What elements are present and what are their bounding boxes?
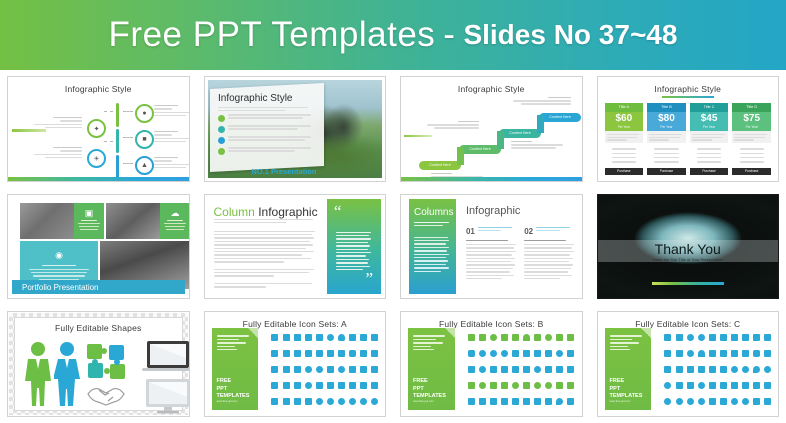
music-note-icon[interactable] [294, 366, 301, 373]
heart-icon[interactable] [512, 366, 519, 373]
pricing-plan-2[interactable]: Title B $80 Per Year [647, 103, 686, 175]
bullet-row [218, 136, 316, 144]
thermometer-icon[interactable] [664, 350, 671, 357]
slide-thumbnail-5[interactable]: ▣ ☁ [7, 194, 190, 300]
plan-header: Title C [690, 103, 729, 112]
checkbox-icon[interactable] [271, 382, 278, 389]
clock-icon[interactable] [305, 382, 312, 389]
numbered-column-1: 01 [466, 227, 517, 293]
briefcase-icon[interactable] [556, 382, 563, 389]
step-bar-1: Content Here [419, 161, 461, 170]
unlock-icon[interactable] [720, 350, 727, 357]
title-underline [662, 96, 714, 98]
text-block-left-1 [34, 117, 82, 128]
people-group-icon[interactable] [468, 334, 475, 341]
plan-price: $60 [615, 114, 632, 124]
left-accent-rule [404, 135, 432, 137]
plant-icon[interactable] [545, 398, 552, 405]
flag-icon[interactable] [534, 334, 541, 341]
cart-icon[interactable] [360, 334, 367, 341]
content-card: Infographic Style [210, 83, 324, 172]
slide-cell-9[interactable]: Fully Editable Shapes [0, 305, 197, 423]
megaphone-icon[interactable] [742, 334, 749, 341]
wifi-icon[interactable] [753, 382, 760, 389]
cloud-icon: ☁ [171, 208, 180, 219]
text-block-right-3 [154, 157, 190, 168]
camera-icon: ▣ [85, 208, 94, 219]
column-bar-green [116, 103, 119, 127]
chat-bubble-icon[interactable] [349, 350, 356, 357]
connector-dash-5 [123, 163, 133, 165]
plan-unit: Per Year [660, 125, 672, 129]
molecule-icon[interactable] [545, 366, 552, 373]
gift-icon[interactable] [360, 350, 367, 357]
pricing-table: Title A $60 Per Year [605, 103, 772, 175]
slide-5-title: Portfolio Presentation [22, 283, 99, 292]
slide-cell-8[interactable]: Thank You Insert the Sub Title of Your P… [590, 188, 786, 306]
star-icon[interactable] [371, 350, 378, 357]
medal-icon[interactable] [294, 382, 301, 389]
parachute-icon[interactable] [698, 350, 705, 357]
exclamation-icon[interactable] [534, 350, 541, 357]
green-info-panel: FREEPPTTEMPLATES www.free-ppt.com [212, 328, 259, 410]
mail-icon[interactable] [283, 334, 290, 341]
file-icon[interactable] [338, 382, 345, 389]
battery-full-icon[interactable] [698, 366, 705, 373]
bag-icon[interactable] [731, 334, 738, 341]
step-riser-3 [537, 115, 544, 133]
panel-brand: FREEPPTTEMPLATES www.free-ppt.com [413, 378, 446, 404]
monitor-icon[interactable] [294, 350, 301, 357]
plan-purchase-button[interactable]: Purchase [605, 168, 644, 175]
quote-open-mark: “ [334, 203, 342, 220]
connector-dash-2 [104, 141, 113, 143]
slide-cell-6[interactable]: Column Infographic [197, 188, 394, 306]
plan-price-box: $75 Per Year [732, 112, 771, 131]
slide-cell-11[interactable]: Fully Editable Icon Sets: B FREEPPTTEMPL… [393, 305, 590, 423]
circle-icon-3: ▲ [135, 156, 154, 175]
chart-icon[interactable] [305, 334, 312, 341]
slide-thumbnail-2[interactable]: Infographic Style [204, 76, 387, 182]
meeting-photo [106, 203, 160, 239]
step-riser-1 [457, 147, 464, 165]
anchor-icon[interactable] [742, 382, 749, 389]
circle-icon-4: ✦ [87, 119, 106, 138]
step-riser-2 [497, 131, 504, 149]
flask-icon[interactable] [567, 366, 574, 373]
cloud-weather-icon[interactable] [664, 398, 671, 405]
slide-cell-7[interactable]: Columns [393, 188, 590, 306]
rss-icon[interactable] [512, 398, 519, 405]
pencil-icon[interactable] [305, 398, 312, 405]
step-label: Content Here [499, 129, 541, 138]
building-icon[interactable] [271, 366, 278, 373]
download-icon[interactable] [731, 382, 738, 389]
tag-icon[interactable] [371, 334, 378, 341]
ruler-icon[interactable] [709, 382, 716, 389]
column-number: 02 [524, 227, 533, 236]
padlock-icon[interactable] [676, 350, 683, 357]
panel-website: www.free-ppt.com [610, 400, 643, 404]
bottom-accent-bar [8, 177, 189, 181]
syringe-icon[interactable] [490, 382, 497, 389]
step-note-3 [511, 141, 563, 149]
lightbulb-icon[interactable] [338, 334, 345, 341]
thermo-icon[interactable] [753, 398, 760, 405]
cup-icon[interactable] [567, 334, 574, 341]
sidebar-subtext [414, 222, 451, 226]
pricing-plan-4[interactable]: Title D $75 Per Year [732, 103, 771, 175]
slide-grid: Infographic Style ● ■ ▲ ✦ ☀ [0, 70, 786, 423]
green-caption-panel-1: ▣ [74, 203, 104, 239]
sidebar-body [414, 235, 451, 272]
bullet-dot-icon [218, 115, 225, 122]
slide-thumbnail-3[interactable]: Infographic Style Content Here Content H… [400, 76, 583, 182]
cloud-storm-icon[interactable] [698, 398, 705, 405]
magnifier-icon[interactable] [698, 334, 705, 341]
play-button-icon[interactable] [664, 382, 671, 389]
quote-panel: “ ” [327, 199, 381, 295]
plan-price: $80 [658, 114, 675, 124]
heart-filled-icon[interactable] [709, 334, 716, 341]
quote-close-mark: ” [365, 270, 373, 287]
microphone-icon[interactable] [709, 350, 716, 357]
green-info-panel: FREEPPTTEMPLATES www.free-ppt.com [408, 328, 455, 410]
speech-bubble-icon[interactable] [468, 350, 475, 357]
male-female-icon[interactable] [664, 334, 671, 341]
pricing-plan-3[interactable]: Title C $45 Per Year [690, 103, 729, 175]
slide-cell-2[interactable]: Infographic Style [197, 70, 394, 188]
pinterest-icon[interactable] [479, 398, 486, 405]
plan-purchase-button[interactable]: Purchase [647, 168, 686, 175]
column-bar-teal [116, 129, 119, 153]
accent-bar [652, 282, 724, 285]
slide-thumbnail-6[interactable]: Column Infographic [204, 194, 387, 300]
signal-icon[interactable] [316, 334, 323, 341]
pill-icon[interactable] [567, 350, 574, 357]
pricing-plan-1[interactable]: Title A $60 Per Year [605, 103, 644, 175]
plan-options [647, 143, 686, 168]
search-icon[interactable] [338, 366, 345, 373]
step-label: Content Here [539, 113, 581, 122]
slide-thumbnail-8[interactable]: Thank You Insert the Sub Title of Your P… [597, 194, 780, 300]
book-icon[interactable] [327, 350, 334, 357]
compass-icon[interactable] [764, 366, 771, 373]
slide-1-title: Infographic Style [8, 84, 189, 94]
brain-icon[interactable] [490, 334, 497, 341]
plane-icon[interactable] [764, 382, 771, 389]
battery-icon[interactable] [338, 350, 345, 357]
recycle-icon[interactable] [567, 398, 574, 405]
mask-icon[interactable] [545, 350, 552, 357]
puzzle-pieces-icon [86, 342, 128, 380]
icon-grid-a [269, 329, 380, 410]
dollar-icon[interactable] [523, 382, 530, 389]
team-photo [20, 203, 74, 239]
thumb-icon[interactable] [512, 334, 519, 341]
hand-icon[interactable] [501, 334, 508, 341]
pin-icon[interactable] [283, 398, 290, 405]
lead-paragraph [214, 219, 315, 223]
bullet-row [218, 114, 316, 122]
plan-unit: Per Year [703, 125, 715, 129]
panel-website: www.free-ppt.com [217, 400, 250, 404]
toolbox-icon[interactable] [731, 350, 738, 357]
fire-icon[interactable] [764, 398, 771, 405]
slide-thumbnail-9[interactable]: Fully Editable Shapes [7, 311, 190, 417]
circle-icon-2: ■ [135, 130, 154, 149]
telephone-icon[interactable] [720, 366, 727, 373]
scissors-icon[interactable] [742, 350, 749, 357]
first-aid-icon[interactable] [468, 366, 475, 373]
apple-icon[interactable] [305, 366, 312, 373]
icon-grid-c [662, 329, 773, 410]
plan-description [647, 131, 686, 143]
suitcase-icon[interactable] [567, 382, 574, 389]
email-at-icon[interactable] [523, 398, 530, 405]
group-icon[interactable] [512, 350, 519, 357]
stopwatch-icon[interactable] [545, 382, 552, 389]
panel-note-lines [610, 335, 647, 350]
plan-description [732, 131, 771, 143]
plan-description [605, 131, 644, 143]
document-icon[interactable] [316, 382, 323, 389]
facebook-icon[interactable] [490, 398, 497, 405]
laptop-icon[interactable] [283, 350, 290, 357]
twitter-icon[interactable] [501, 398, 508, 405]
template-preview-sheet: Free PPT Templates - Slides No 37~48 Inf… [0, 0, 786, 423]
plan-options [690, 143, 729, 168]
text-block-right-2 [154, 131, 190, 142]
medical-cross-icon[interactable] [556, 350, 563, 357]
icon-grid-b [466, 329, 577, 410]
handshake-outline-icon [86, 382, 130, 408]
note-icon[interactable] [360, 382, 367, 389]
plan-header: Title A [605, 103, 644, 112]
folder-icon[interactable] [327, 382, 334, 389]
panel-brand: FREEPPTTEMPLATES www.free-ppt.com [610, 378, 643, 404]
slide-6-heading: Column Infographic [214, 205, 318, 219]
slide-cell-3[interactable]: Infographic Style Content Here Content H… [393, 70, 590, 188]
flash-icon[interactable] [523, 366, 530, 373]
umbrella-icon[interactable] [523, 334, 530, 341]
bullet-dot-icon [218, 148, 225, 155]
balloon-icon[interactable] [512, 382, 519, 389]
left-accent-rule [12, 129, 46, 132]
text-block-left-2 [34, 147, 82, 158]
cloud-sun-icon[interactable] [676, 398, 683, 405]
headset-icon[interactable] [490, 350, 497, 357]
wheel-icon[interactable] [534, 366, 541, 373]
heading-dark-part: Infographic [258, 205, 317, 219]
tree-icon[interactable] [534, 398, 541, 405]
slide-cell-4[interactable]: Infographic Style Title A $60 Per Year [590, 70, 786, 188]
archive-icon[interactable] [371, 382, 378, 389]
ribbon-icon[interactable] [479, 334, 486, 341]
slide-thumbnail-4[interactable]: Infographic Style Title A $60 Per Year [597, 76, 780, 182]
wallet-icon[interactable] [501, 382, 508, 389]
thumbs-up-icon[interactable] [271, 334, 278, 341]
slide-thumbnail-10[interactable]: Fully Editable Icon Sets: A FREEPPTTEMPL… [204, 311, 387, 417]
image-icon[interactable] [687, 382, 694, 389]
panel-website: www.free-ppt.com [413, 400, 446, 404]
slide-thumbnail-11[interactable]: Fully Editable Icon Sets: B FREEPPTTEMPL… [400, 311, 583, 417]
person-icon[interactable] [271, 398, 278, 405]
plan-unit: Per Year [618, 125, 630, 129]
businesswoman-silhouette-icon [54, 340, 80, 406]
body-paragraphs [214, 229, 315, 288]
battery-level-icon[interactable] [676, 366, 683, 373]
businessman-silhouette-icon [25, 340, 51, 406]
plan-options [732, 143, 771, 168]
window-icon[interactable] [371, 366, 378, 373]
power-icon[interactable] [731, 366, 738, 373]
plan-purchase-button[interactable]: Purchase [690, 168, 729, 175]
smiley-surprised-icon[interactable] [360, 398, 367, 405]
speaker-icon[interactable] [664, 366, 671, 373]
gradient-sidebar: Columns [409, 199, 456, 295]
connector-dash-3 [123, 111, 133, 113]
slide-thumbnail-12[interactable]: Fully Editable Icon Sets: C FREEPPTTEMPL… [597, 311, 780, 417]
stethoscope-icon[interactable] [479, 382, 486, 389]
hourglass-icon[interactable] [294, 398, 301, 405]
slide-cell-5[interactable]: ▣ ☁ [0, 188, 197, 306]
video-icon[interactable] [676, 382, 683, 389]
lock-icon[interactable] [271, 350, 278, 357]
linkedin-icon[interactable] [468, 398, 475, 405]
laptop-device-icon [142, 340, 190, 374]
leaf-icon[interactable] [327, 366, 334, 373]
network-icon[interactable] [501, 350, 508, 357]
slide-4-title: Infographic Style [598, 84, 779, 94]
bottle-icon[interactable] [556, 366, 563, 373]
step-note-4 [513, 97, 571, 105]
slide-3-title: Infographic Style [401, 84, 582, 94]
step-label: Content Here [459, 145, 501, 154]
trophy-icon[interactable] [349, 334, 356, 341]
location-pin-icon[interactable] [753, 366, 760, 373]
plan-price: $75 [743, 114, 760, 124]
plan-options [605, 143, 644, 168]
bus-icon[interactable] [764, 350, 771, 357]
smiley-grin-icon[interactable] [371, 398, 378, 405]
banner-separator: - [443, 15, 455, 55]
phone-icon[interactable] [316, 350, 323, 357]
lifebuoy-icon[interactable] [742, 366, 749, 373]
banner-sub-title: Slides No 37~48 [463, 19, 677, 51]
trash-icon[interactable] [556, 334, 563, 341]
settings-icon[interactable] [698, 382, 705, 389]
column-bar-blue [116, 155, 119, 179]
panel-brand: FREEPPTTEMPLATES www.free-ppt.com [217, 378, 250, 404]
bullet-row [218, 147, 316, 155]
sun-icon[interactable] [731, 398, 738, 405]
head-profile-icon[interactable] [479, 350, 486, 357]
thank-you-title: Thank You [598, 241, 779, 257]
droplet-icon[interactable] [556, 398, 563, 405]
slide-thumbnail-7[interactable]: Columns [400, 194, 583, 300]
microscope-icon[interactable] [468, 382, 475, 389]
play-circle-icon: ◉ [55, 250, 63, 261]
running-icon[interactable] [720, 382, 727, 389]
quote-text-lines [336, 232, 372, 271]
bar-chart-icon[interactable] [764, 334, 771, 341]
numbered-column-2: 02 [524, 227, 575, 293]
tablet-icon[interactable] [305, 350, 312, 357]
slide-cell-1[interactable]: Infographic Style ● ■ ▲ ✦ ☀ [0, 70, 197, 188]
cloud-icon[interactable] [534, 382, 541, 389]
portfolio-title-bar: Portfolio Presentation [12, 280, 185, 294]
bullet-row [218, 125, 316, 133]
header-banner: Free PPT Templates - Slides No 37~48 [0, 0, 786, 70]
gender-male-icon[interactable] [687, 334, 694, 341]
slide-9-title: Fully Editable Shapes [8, 323, 189, 333]
step-label: Content Here [419, 161, 461, 170]
plan-price: $45 [701, 114, 718, 124]
calendar-icon[interactable] [360, 366, 367, 373]
smiley-neutral-icon[interactable] [327, 398, 334, 405]
numbered-columns: 01 [466, 227, 576, 293]
desktop-monitor-device-icon [144, 378, 190, 414]
smiley-sad-icon[interactable] [338, 398, 345, 405]
gear-icon[interactable] [316, 366, 323, 373]
globe-icon[interactable] [327, 334, 334, 341]
panel-note-lines [413, 335, 450, 350]
ambulance-icon[interactable] [501, 366, 508, 373]
step-bar-4: Content Here [539, 113, 581, 122]
car-icon[interactable] [753, 350, 760, 357]
smiley-wink-icon[interactable] [349, 398, 356, 405]
shield-icon[interactable] [283, 382, 290, 389]
slide-cell-12[interactable]: Fully Editable Icon Sets: C FREEPPTTEMPL… [590, 305, 786, 423]
cloud-rain-icon[interactable] [687, 398, 694, 405]
rain-drops-icon[interactable] [709, 398, 716, 405]
virus-icon[interactable] [479, 366, 486, 373]
camera-icon[interactable] [720, 334, 727, 341]
step-note-2 [427, 121, 479, 129]
plan-header: Title B [647, 103, 686, 112]
panel-note-lines [217, 335, 254, 350]
bullet-dot-icon [218, 137, 225, 144]
column-number: 01 [466, 227, 475, 236]
grid-icon[interactable] [349, 366, 356, 373]
alert-icon[interactable] [753, 334, 760, 341]
home-icon[interactable] [294, 334, 301, 341]
step-bar-3: Content Here [499, 129, 541, 138]
slide-7-heading: Infographic [466, 205, 520, 217]
signal-bars-icon[interactable] [709, 366, 716, 373]
slide-2-title: Infographic Style [218, 93, 316, 104]
slide-thumbnail-1[interactable]: Infographic Style ● ■ ▲ ✦ ☀ [7, 76, 190, 182]
snow-icon[interactable] [720, 398, 727, 405]
person-standing-icon[interactable] [676, 334, 683, 341]
tooth-icon[interactable] [490, 366, 497, 373]
airplane-icon[interactable] [283, 366, 290, 373]
eye-icon[interactable] [545, 334, 552, 341]
target-icon[interactable] [687, 350, 694, 357]
moon-icon[interactable] [742, 398, 749, 405]
text-block-right-1 [154, 105, 190, 116]
circle-icon-1: ● [135, 104, 154, 123]
smiley-happy-icon[interactable] [316, 398, 323, 405]
badge-icon[interactable] [523, 350, 530, 357]
connector-dash-1 [104, 111, 113, 113]
plan-description [690, 131, 729, 143]
plan-purchase-button[interactable]: Purchase [732, 168, 771, 175]
slide-cell-10[interactable]: Fully Editable Icon Sets: A FREEPPTTEMPL… [197, 305, 394, 423]
clipboard-icon[interactable] [349, 382, 356, 389]
battery-half-icon[interactable] [687, 366, 694, 373]
